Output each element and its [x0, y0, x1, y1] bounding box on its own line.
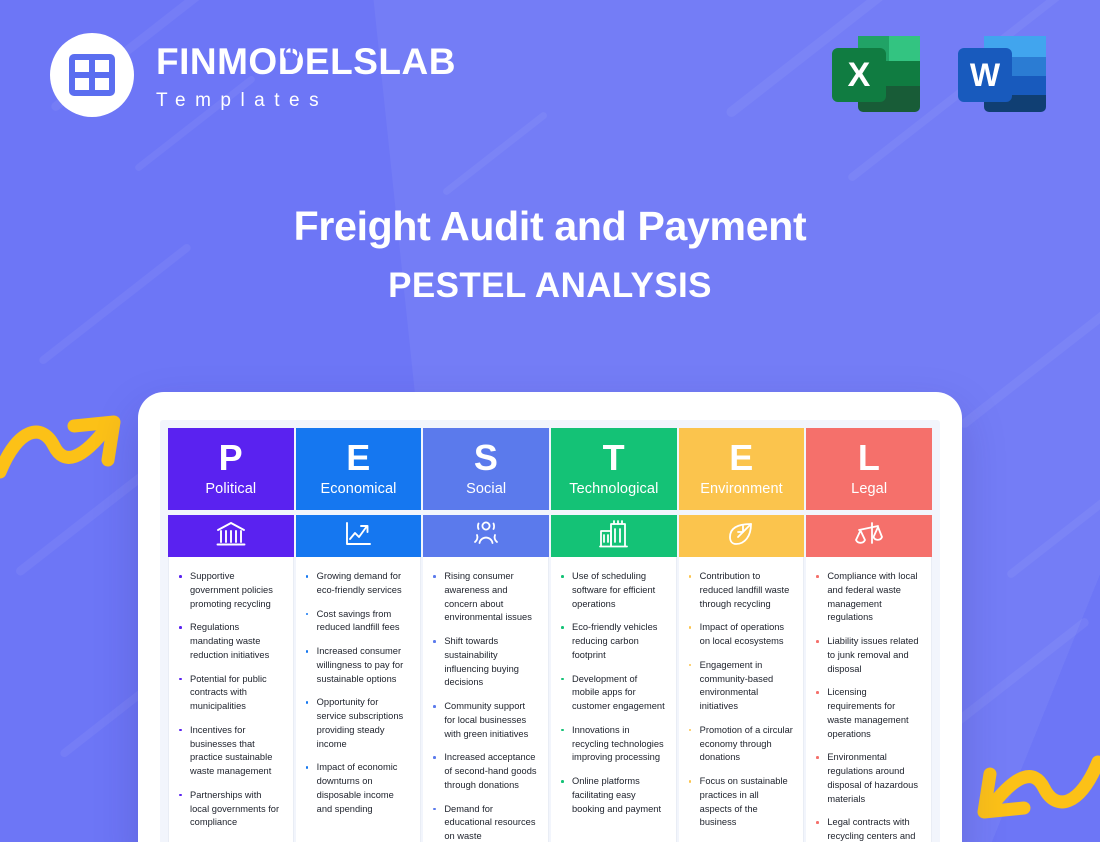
point-list: Supportive government policies promoting… [177, 570, 283, 830]
point-item: Impact of economic downturns on disposab… [304, 761, 411, 816]
pestel-column-social: SSocialRising consumer awareness and con… [423, 428, 549, 842]
word-letter: W [970, 57, 1001, 93]
pestel-column-legal: LLegalCompliance with local and federal … [806, 428, 932, 842]
pestel-points-environment: Contribution to reduced landfill waste t… [679, 557, 805, 842]
pestel-column-environment: EEnvironmentContribution to reduced land… [679, 428, 805, 842]
line-chart-icon [344, 521, 372, 552]
leaf-icon [727, 520, 755, 553]
pestel-column-technological: TTechnologicalUse of scheduling software… [551, 428, 677, 842]
brand-text: FINMODELSLAB Templates [156, 41, 456, 110]
pestel-letter: S [474, 441, 499, 475]
point-item: Legal contracts with recycling centers a… [814, 816, 921, 842]
point-item: Innovations in recycling technologies im… [559, 724, 666, 765]
point-item: Engagement in community-based environmen… [687, 659, 794, 714]
word-icon[interactable]: W [954, 28, 1052, 125]
pestel-column-economical: EEconomicalGrowing demand for eco-friend… [296, 428, 422, 842]
people-group-icon [471, 520, 501, 552]
point-item: Promotion of a circular economy through … [687, 724, 794, 765]
squiggle-arrow-down-left-icon [970, 752, 1100, 835]
point-item: Development of mobile apps for customer … [559, 673, 666, 714]
pestel-icon-cell-legal [806, 515, 932, 557]
point-item: Incentives for businesses that practice … [177, 724, 283, 779]
factory-building-icon [599, 520, 628, 553]
pestel-icon-cell-environment [679, 515, 805, 557]
point-list: Compliance with local and federal waste … [814, 570, 921, 842]
pestel-icon-cell-political [168, 515, 294, 557]
grid-window-icon [69, 54, 115, 96]
point-item: Use of scheduling software for efficient… [559, 570, 666, 611]
pestel-header-environment[interactable]: EEnvironment [679, 428, 805, 510]
pestel-matrix: PPoliticalSupportive government policies… [168, 428, 932, 842]
brand-logo[interactable]: FINMODELSLAB Templates [50, 33, 456, 117]
excel-letter: X [848, 56, 871, 94]
point-item: Regulations mandating waste reduction in… [177, 621, 283, 662]
point-list: Growing demand for eco-friendly services… [304, 570, 411, 816]
pestel-letter: P [219, 441, 244, 475]
pestel-points-political: Supportive government policies promoting… [168, 557, 294, 842]
pestel-header-political[interactable]: PPolitical [168, 428, 294, 510]
point-item: Compliance with local and federal waste … [814, 570, 921, 625]
point-item: Demand for educational resources on wast… [431, 803, 538, 842]
point-item: Community support for local businesses w… [431, 700, 538, 741]
point-item: Cost savings from reduced landfill fees [304, 608, 411, 636]
pestel-icon-cell-social [423, 515, 549, 557]
point-list: Rising consumer awareness and concern ab… [431, 570, 538, 842]
point-item: Liability issues related to junk removal… [814, 635, 921, 676]
pestel-label: Legal [851, 481, 887, 497]
bank-building-icon [216, 520, 246, 553]
point-list: Use of scheduling software for efficient… [559, 570, 666, 816]
pestel-points-legal: Compliance with local and federal waste … [806, 557, 932, 842]
point-item: Licensing requirements for waste managem… [814, 686, 921, 741]
point-item: Environmental regulations around disposa… [814, 751, 921, 806]
pestel-icon-cell-technological [551, 515, 677, 557]
pestel-column-political: PPoliticalSupportive government policies… [168, 428, 294, 842]
point-item: Opportunity for service subscriptions pr… [304, 696, 411, 751]
brand-name: FINMODELSLAB [156, 43, 456, 80]
brand-mark [50, 33, 134, 117]
pestel-points-social: Rising consumer awareness and concern ab… [423, 557, 549, 842]
point-item: Supportive government policies promoting… [177, 570, 283, 611]
point-item: Increased consumer willingness to pay fo… [304, 645, 411, 686]
title-block: Freight Audit and Payment PESTEL ANALYSI… [0, 202, 1100, 306]
scales-balance-icon [854, 521, 884, 552]
power-o-icon [283, 45, 300, 62]
pestel-label: Social [466, 481, 506, 497]
point-item: Rising consumer awareness and concern ab… [431, 570, 538, 625]
pestel-points-economical: Growing demand for eco-friendly services… [296, 557, 422, 842]
squiggle-arrow-up-right-icon [0, 404, 128, 487]
point-item: Online platforms facilitating easy booki… [559, 775, 666, 816]
point-item: Increased acceptance of second-hand good… [431, 751, 538, 792]
point-item: Contribution to reduced landfill waste t… [687, 570, 794, 611]
pestel-icon-cell-economical [296, 515, 422, 557]
pestel-label: Political [205, 481, 256, 497]
point-item: Partnerships with local governments for … [177, 789, 283, 830]
point-item: Impact of operations on local ecosystems [687, 621, 794, 649]
pestel-label: Environment [700, 481, 783, 497]
point-item: Growing demand for eco-friendly services [304, 570, 411, 598]
tablet-screen: PPoliticalSupportive government policies… [160, 420, 940, 842]
pestel-letter: L [858, 441, 881, 475]
pestel-header-social[interactable]: SSocial [423, 428, 549, 510]
page-header: FINMODELSLAB Templates X [0, 0, 1100, 150]
page-title: Freight Audit and Payment [0, 202, 1100, 250]
pestel-label: Economical [321, 481, 397, 497]
pestel-label: Technological [569, 481, 658, 497]
point-list: Contribution to reduced landfill waste t… [687, 570, 794, 830]
excel-icon[interactable]: X [828, 28, 926, 125]
tablet-device-frame: PPoliticalSupportive government policies… [138, 392, 962, 842]
pestel-letter: E [729, 441, 754, 475]
page-subtitle: PESTEL ANALYSIS [0, 266, 1100, 306]
brand-name-label: FINMODELSLAB [156, 41, 456, 82]
pestel-header-technological[interactable]: TTechnological [551, 428, 677, 510]
pestel-points-technological: Use of scheduling software for efficient… [551, 557, 677, 842]
point-item: Potential for public contracts with muni… [177, 673, 283, 714]
pestel-header-economical[interactable]: EEconomical [296, 428, 422, 510]
pestel-letter: T [603, 441, 626, 475]
pestel-header-legal[interactable]: LLegal [806, 428, 932, 510]
office-format-icons: X W [828, 28, 1052, 125]
brand-tagline: Templates [156, 91, 456, 110]
point-item: Focus on sustainable practices in all as… [687, 775, 794, 830]
pestel-letter: E [346, 441, 371, 475]
point-item: Eco-friendly vehicles reducing carbon fo… [559, 621, 666, 662]
point-item: Shift towards sustainability influencing… [431, 635, 538, 690]
